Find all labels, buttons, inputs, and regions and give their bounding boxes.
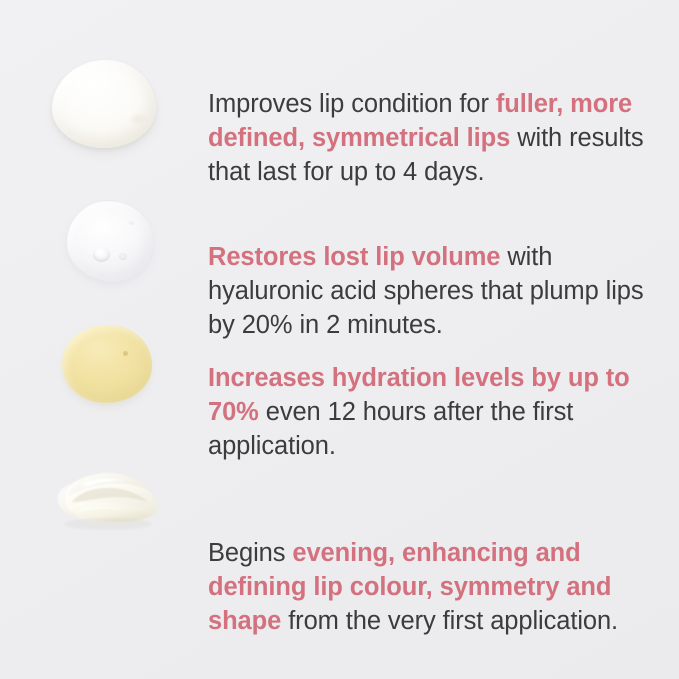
benefit-segment-highlight: Restores lost lip volume (208, 243, 500, 271)
swatch-cell-2 (0, 200, 208, 330)
swatch-cell-4 (0, 460, 208, 630)
benefit-row-lip-colour: Begins evening, enhancing and defining l… (0, 460, 679, 630)
benefit-segment: even 12 hours after the first applicatio… (208, 398, 573, 460)
benefit-text-hydration: Increases hydration levels by up to 70% … (208, 351, 651, 463)
white-cream-swirl-swatch (48, 460, 166, 536)
benefit-segment: Begins (208, 539, 292, 567)
benefit-segment: from the very first application. (281, 607, 618, 635)
gel-bubble-icon (129, 221, 134, 225)
benefit-row-hydration: Increases hydration levels by up to 70% … (0, 325, 679, 455)
text-cell-4: Begins evening, enhancing and defining l… (208, 460, 679, 663)
benefit-text-fuller-lips: Improves lip condition for fuller, more … (208, 78, 651, 189)
clear-gel-drop-swatch (66, 200, 154, 282)
swatch-cell-1 (0, 52, 208, 192)
text-cell-1: Improves lip condition for fuller, more … (208, 52, 679, 214)
pale-yellow-oil-drop-swatch (62, 325, 152, 403)
swatch-cell-3 (0, 325, 208, 455)
benefit-text-lip-colour: Begins evening, enhancing and defining l… (208, 486, 651, 638)
infographic-board: Improves lip condition for fuller, more … (0, 0, 679, 679)
gel-bubble-icon (93, 247, 110, 262)
benefit-row-fuller-lips: Improves lip condition for fuller, more … (0, 52, 679, 192)
benefit-row-lip-volume: Restores lost lip volume with hyaluronic… (0, 200, 679, 330)
gel-bubble-icon (119, 253, 127, 260)
benefit-segment: Improves lip condition for (208, 90, 496, 118)
pearly-white-cream-dome-swatch (52, 60, 156, 148)
